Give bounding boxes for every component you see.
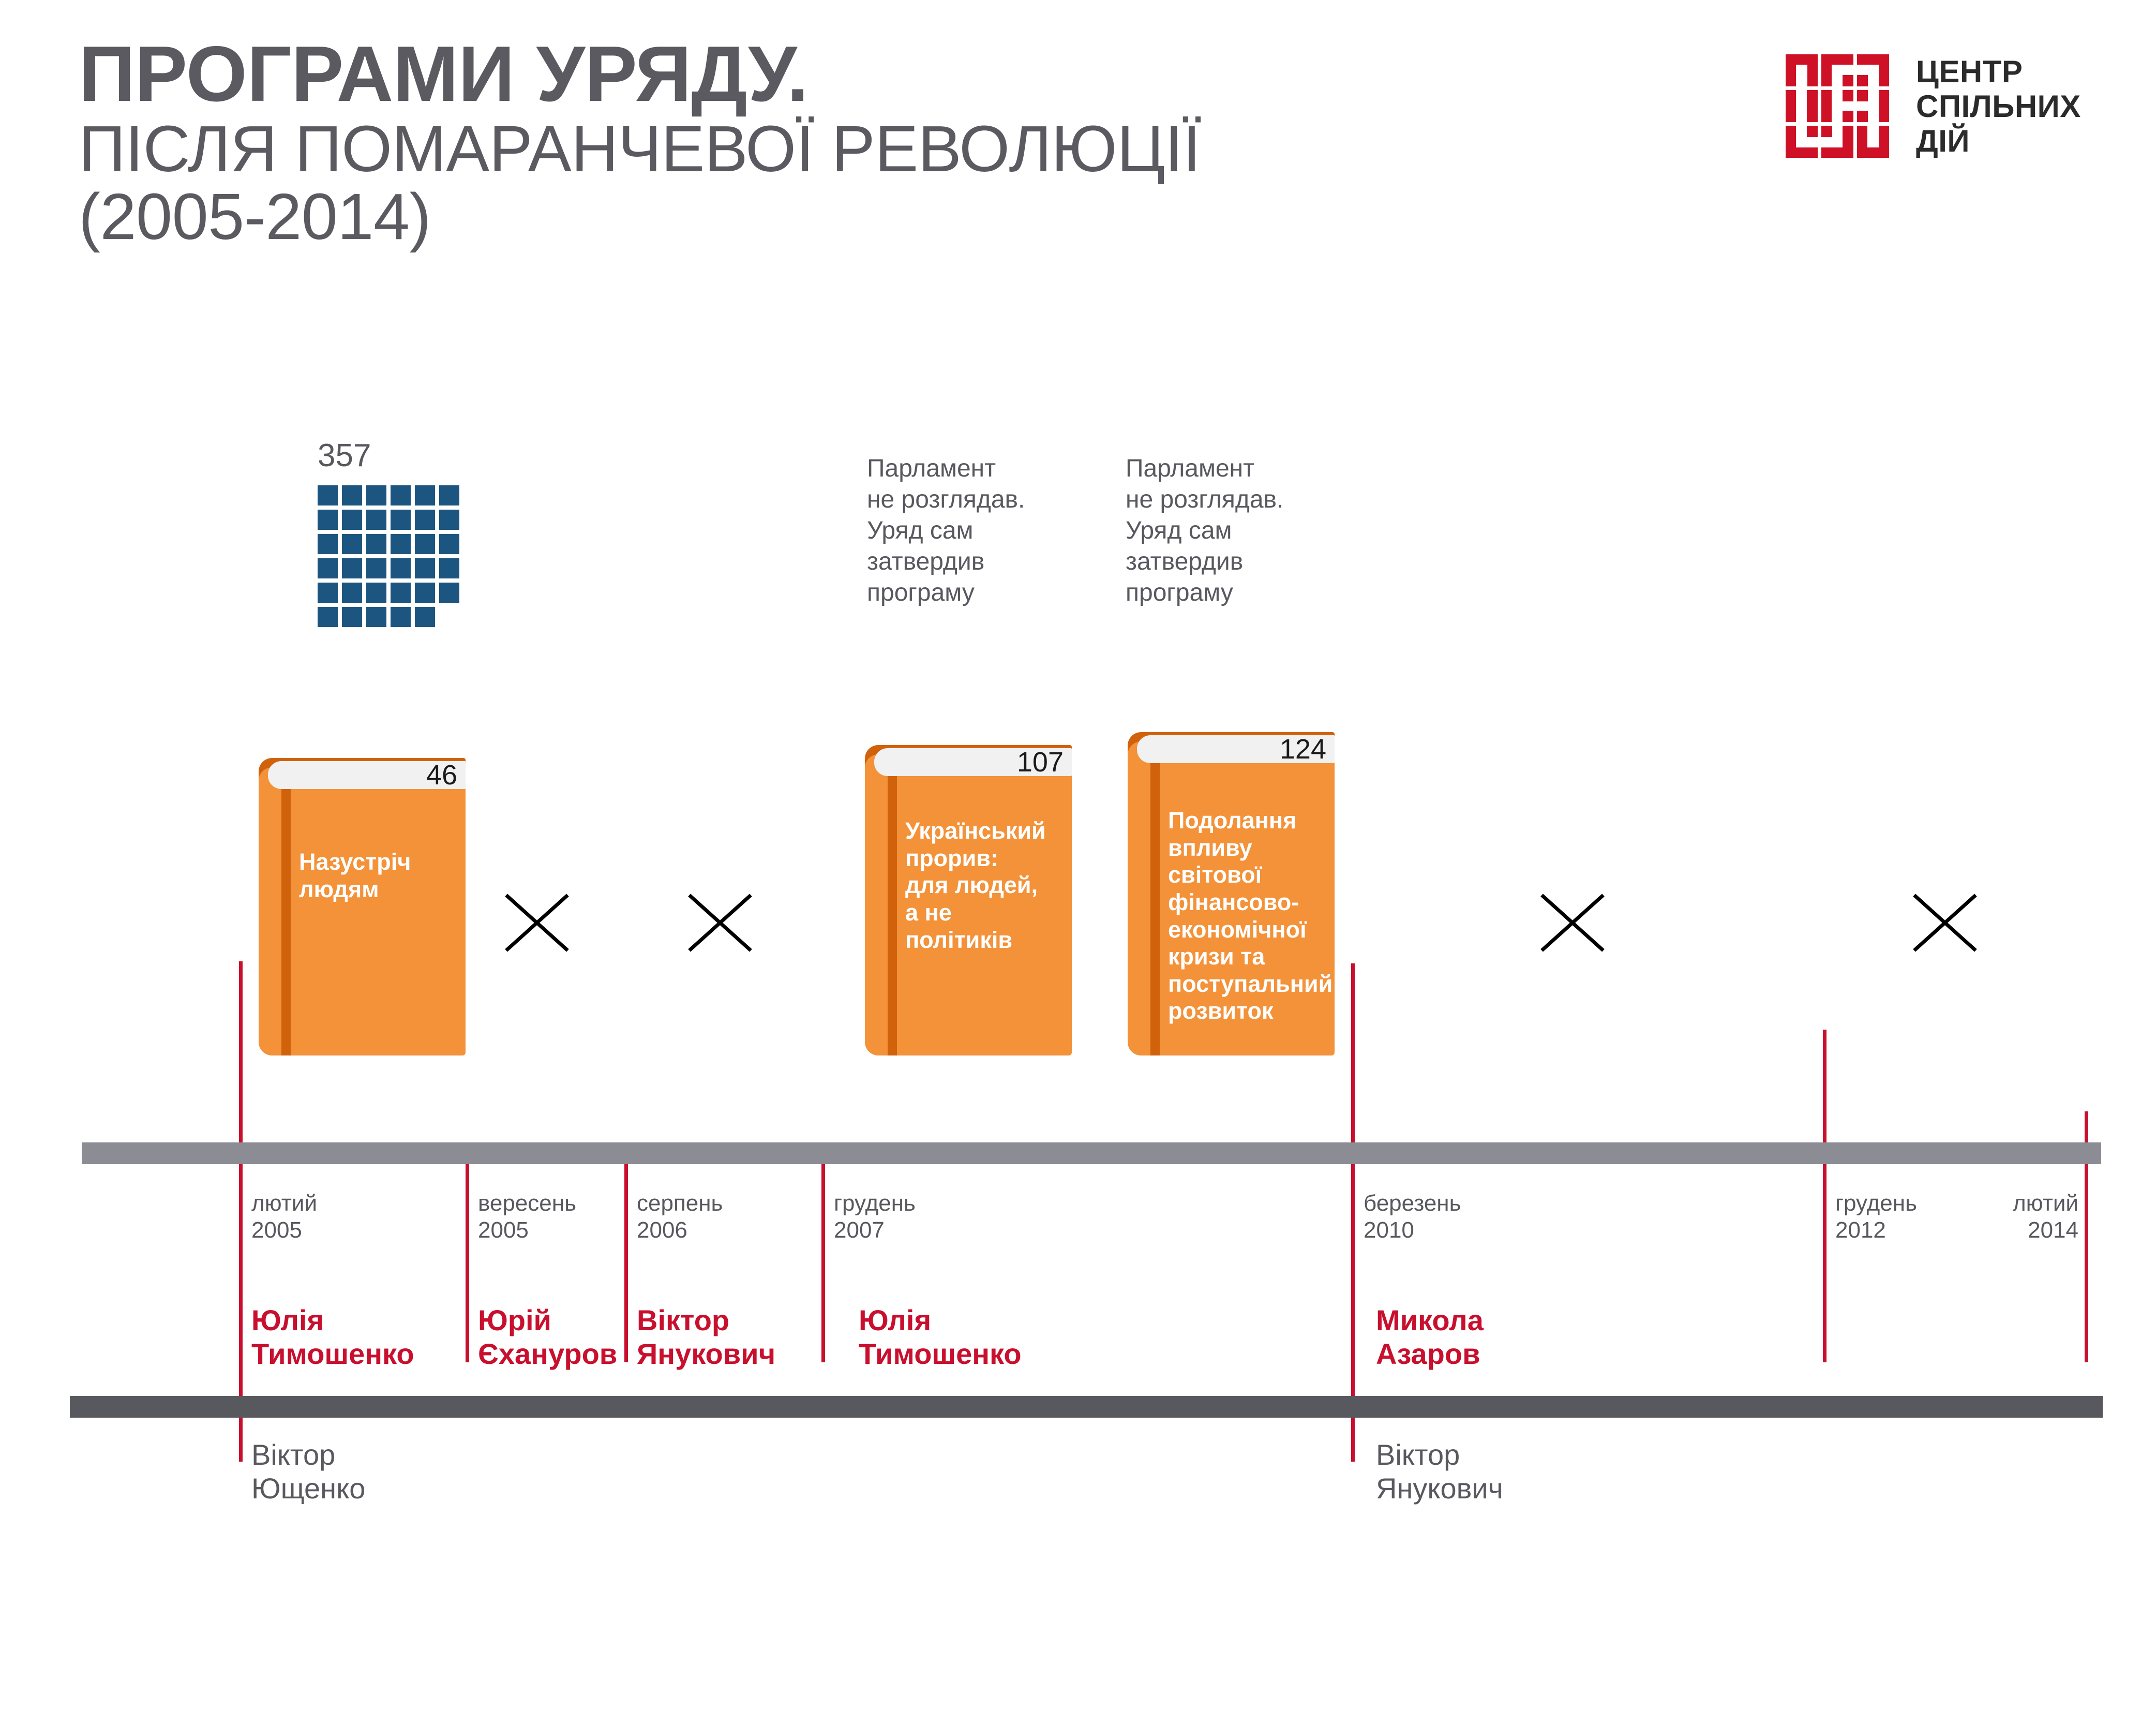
book-1-page-count: 46 (426, 761, 457, 789)
timeline-marker-3 (624, 1142, 628, 1362)
timeline-marker-2 (466, 1142, 469, 1362)
infographic-canvas: ПРОГРАМИ УРЯДУ. ПІСЛЯ ПОМАРАНЧЕВОЇ РЕВОЛ… (0, 0, 2156, 1710)
book-2-spine (888, 745, 897, 1055)
book-1-spine (281, 758, 291, 1055)
pictogram-square (439, 583, 459, 603)
no-program-x-icon-1 (496, 880, 578, 962)
pictogram-square (415, 485, 435, 505)
date-label-5: березень 2010 (1364, 1190, 1461, 1244)
pictogram-square (342, 607, 362, 627)
pictogram-square (318, 485, 338, 505)
pictogram-square (342, 510, 362, 530)
logo-wordmark: ЦЕНТР СПІЛЬНИХ ДІЙ (1916, 54, 2081, 159)
book-1-title: Назустріч людям (299, 849, 458, 903)
pictogram-square (391, 485, 411, 505)
logo-mark-icon (1786, 54, 1889, 158)
prime-minister-3: Віктор Янукович (637, 1304, 775, 1371)
pictogram-square (366, 607, 386, 627)
pictogram-square (415, 558, 435, 578)
pictogram-square (366, 510, 386, 530)
pictogram-square (342, 558, 362, 578)
prime-minister-2: Юрій Єхануров (478, 1304, 617, 1371)
program-book-2[interactable]: 107 Український прорив: для людей, а не … (865, 745, 1072, 1055)
pictogram-357: 357 (318, 437, 459, 627)
timeline-marker-4 (821, 1142, 825, 1362)
prime-minister-4: Юлія Тимошенко (859, 1304, 1022, 1371)
president-2: Віктор Янукович (1376, 1438, 1503, 1506)
date-label-6: грудень 2012 (1835, 1190, 1917, 1244)
pictogram-square (318, 558, 338, 578)
brand-logo: ЦЕНТР СПІЛЬНИХ ДІЙ (1786, 54, 2081, 159)
pictogram-square (342, 485, 362, 505)
pictogram-square (439, 510, 459, 530)
title-line-1: ПРОГРАМИ УРЯДУ. (79, 36, 1201, 112)
pictogram-square (318, 510, 338, 530)
book-2-title: Український прорив: для людей, а не полі… (905, 817, 1065, 954)
program-book-3[interactable]: 124 Подолання впливу світової фінансово-… (1128, 732, 1335, 1055)
pictogram-square (415, 510, 435, 530)
pictogram-square (391, 534, 411, 554)
pictogram-square (391, 583, 411, 603)
date-label-7: лютий 2014 (1914, 1190, 2078, 1244)
logo-text-line-2: СПІЛЬНИХ (1916, 89, 2081, 124)
book-3-spine (1150, 732, 1160, 1055)
pictogram-square (318, 607, 338, 627)
page-title: ПРОГРАМИ УРЯДУ. ПІСЛЯ ПОМАРАНЧЕВОЇ РЕВОЛ… (79, 36, 1201, 248)
pictogram-square (391, 510, 411, 530)
pictogram-square (342, 583, 362, 603)
pictogram-square (366, 583, 386, 603)
pictogram-square (415, 583, 435, 603)
timeline-marker-5 (1351, 963, 1355, 1462)
date-label-1: лютий 2005 (251, 1190, 317, 1244)
note-parliament-1: Парламент не розглядав. Уряд сам затверд… (867, 453, 1025, 608)
no-program-x-icon-4 (1904, 880, 1986, 962)
timeline-marker-1 (239, 961, 243, 1462)
date-label-3: серпень 2006 (637, 1190, 723, 1244)
pictogram-square (366, 534, 386, 554)
president-timeline-bar (70, 1396, 2103, 1418)
pictogram-square (439, 485, 459, 505)
pictogram-square (391, 558, 411, 578)
president-1: Віктор Ющенко (251, 1438, 365, 1506)
timeline-marker-6 (1823, 1030, 1826, 1362)
pictogram-grid (318, 485, 459, 627)
pictogram-square (318, 583, 338, 603)
pictogram-square (366, 558, 386, 578)
pictogram-square (415, 607, 435, 627)
pictogram-square (415, 534, 435, 554)
date-label-2: вересень 2005 (478, 1190, 576, 1244)
book-3-page-count: 124 (1280, 735, 1326, 763)
prime-minister-timeline-bar (82, 1142, 2101, 1164)
book-3-title: Подолання впливу світової фінансово- еко… (1168, 807, 1327, 1025)
date-label-4: грудень 2007 (834, 1190, 916, 1244)
no-program-x-icon-3 (1531, 880, 1614, 962)
program-book-1[interactable]: 46 Назустріч людям (259, 758, 466, 1055)
pictogram-square (391, 607, 411, 627)
title-line-2: ПІСЛЯ ПОМАРАНЧЕВОЇ РЕВОЛЮЦІЇ (79, 117, 1201, 181)
logo-text-line-1: ЦЕНТР (1916, 54, 2081, 89)
pictogram-square (342, 534, 362, 554)
pictogram-square (366, 485, 386, 505)
pictogram-square (439, 558, 459, 578)
pictogram-square (439, 534, 459, 554)
pictogram-square (318, 534, 338, 554)
logo-text-line-3: ДІЙ (1916, 124, 2081, 158)
prime-minister-5: Микола Азаров (1376, 1304, 1484, 1371)
book-2-page-count: 107 (1017, 748, 1064, 776)
pictogram-value: 357 (318, 437, 459, 474)
prime-minister-1: Юлія Тимошенко (251, 1304, 414, 1371)
note-parliament-2: Парламент не розглядав. Уряд сам затверд… (1126, 453, 1283, 608)
no-program-x-icon-2 (679, 880, 761, 962)
title-line-3: (2005-2014) (79, 185, 1201, 248)
